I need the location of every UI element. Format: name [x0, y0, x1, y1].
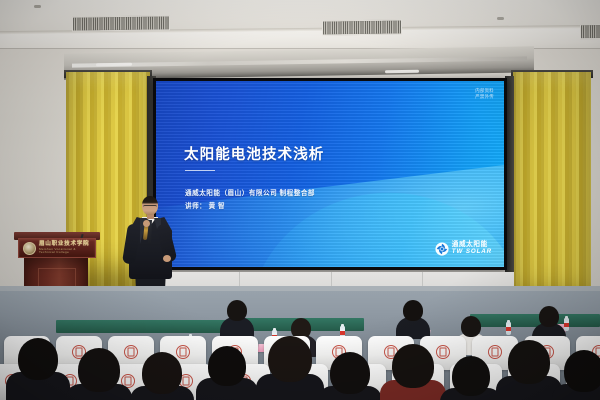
- chair-cover-logo-icon: [176, 345, 190, 359]
- slide-confidential-note: 内部资料 严禁外传: [475, 88, 494, 100]
- venue-name-english: Meishan Vocational & Technical College: [39, 248, 91, 255]
- foreground-audience-head: [508, 340, 550, 384]
- table-skirt: [470, 314, 600, 327]
- ceiling-light-icon: [96, 63, 132, 67]
- foreground-audience-head: [564, 350, 600, 392]
- confidential-line-2: 严禁外传: [475, 94, 494, 100]
- ceiling-vent-icon: [580, 24, 600, 40]
- slide-divider: [185, 170, 215, 171]
- smoke-detector-icon: [497, 17, 504, 20]
- logo-english-name: TW SOLAR: [452, 249, 492, 256]
- floor-edge-strip: [0, 286, 600, 291]
- foreground-audience-head: [18, 338, 58, 380]
- presenter-hand: [163, 255, 171, 262]
- audience-person-head: [227, 300, 247, 321]
- college-emblem-icon: [23, 242, 36, 255]
- foreground-audience-head: [392, 344, 434, 388]
- smoke-detector-icon: [34, 5, 41, 8]
- ceiling-vent-icon: [322, 20, 402, 36]
- chair-cover-logo-icon: [124, 345, 138, 359]
- tw-solar-swirl-icon: [435, 242, 449, 256]
- presentation-slide: 内部资料 严禁外传 太阳能电池技术浅析 通威太阳能（眉山）有限公司 制程整合部 …: [156, 81, 504, 267]
- chair-cover-logo-icon: [488, 345, 502, 359]
- presentation-hall-photo: 内部资料 严禁外传 太阳能电池技术浅析 通威太阳能（眉山）有限公司 制程整合部 …: [0, 0, 600, 400]
- water-bottle-icon: [506, 322, 511, 335]
- slide-subtitle-company: 通威太阳能（眉山）有限公司 制程整合部: [185, 187, 315, 200]
- table-skirt: [56, 320, 234, 333]
- presenter-hand: [143, 220, 150, 227]
- audience-person-head: [403, 300, 423, 321]
- foreground-audience-head: [330, 352, 370, 394]
- audience-person-head: [539, 306, 559, 327]
- chair-cover-logo-icon: [436, 345, 450, 359]
- foreground-audience-head: [452, 356, 490, 396]
- foreground-audience-head: [78, 348, 120, 392]
- water-bottle-icon: [564, 318, 569, 331]
- led-screen-frame: 内部资料 严禁外传 太阳能电池技术浅析 通威太阳能（眉山）有限公司 制程整合部 …: [153, 78, 507, 270]
- logo-text-block: 通威太阳能 TW SOLAR: [452, 242, 492, 255]
- podium-sign-text: 眉山职业技术学院 Meishan Vocational & Technical …: [39, 241, 91, 255]
- audience-person-head: [461, 316, 481, 337]
- foreground-audience-head: [142, 352, 182, 394]
- foreground-audience-head: [268, 336, 312, 382]
- slide-subtitle-presenter: 讲师： 黄 智: [185, 200, 315, 213]
- ceiling-light-icon: [385, 70, 419, 74]
- stage-curtain-right: [513, 72, 591, 310]
- glasses-icon: [143, 205, 157, 209]
- slide-subtitle: 通威太阳能（眉山）有限公司 制程整合部 讲师： 黄 智: [185, 187, 315, 213]
- podium-name-plate: 眉山职业技术学院 Meishan Vocational & Technical …: [18, 238, 96, 258]
- slide-title: 太阳能电池技术浅析: [184, 143, 324, 164]
- foreground-audience-head: [208, 346, 246, 386]
- company-logo: 通威太阳能 TW SOLAR: [435, 242, 492, 256]
- ceiling-vent-icon: [72, 15, 170, 31]
